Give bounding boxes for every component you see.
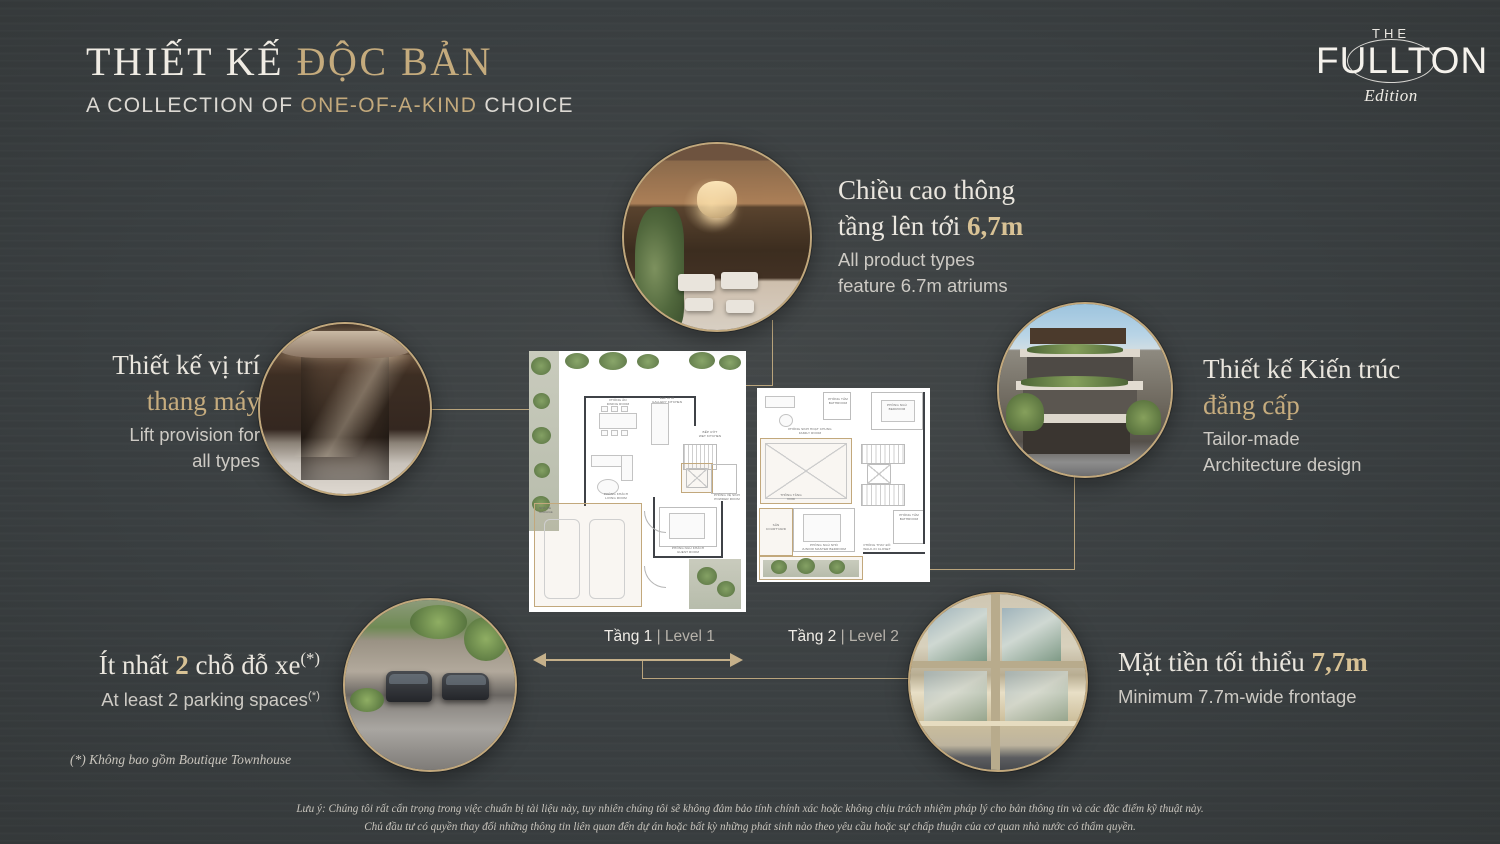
logo-edition-text: Edition bbox=[1316, 86, 1466, 106]
photo-modern-villa-exterior[interactable] bbox=[997, 302, 1173, 478]
photo-double-height-living-room[interactable] bbox=[622, 142, 812, 332]
glass-panel bbox=[924, 671, 987, 720]
floor-plan-level-2[interactable]: PHÒNG SINH HOẠT CHUNGFAMILY ROOM PHÒNG T… bbox=[757, 388, 930, 582]
plan1-door-swing bbox=[644, 566, 666, 588]
plan1-canvas: PHÒNG ĂNDINING ROOM BẾP KHÔGALLERY KITCH… bbox=[529, 351, 746, 612]
page-title-gold: ĐỘC BẢN bbox=[297, 39, 493, 84]
plan1-door-swing bbox=[644, 511, 666, 533]
plan1-wall-r2 bbox=[721, 501, 723, 557]
parking-footnote-marker-en: (*) bbox=[308, 689, 320, 701]
callout-lift-vn-l1: Thiết kế vị trí bbox=[20, 348, 260, 384]
callout-arch-en-l1: Tailor-made bbox=[1203, 426, 1400, 452]
villa-tree bbox=[1006, 393, 1044, 431]
plan1-tree bbox=[719, 355, 741, 370]
car-shape bbox=[386, 671, 432, 702]
footnote-boutique-townhouse: (*) Không bao gồm Boutique Townhouse bbox=[70, 752, 291, 768]
value-ceiling-height: 6,7m bbox=[967, 211, 1023, 241]
floor-band bbox=[910, 661, 1086, 668]
page-title: THIẾT KẾ ĐỘC BẢN bbox=[86, 40, 574, 85]
plan2-tree bbox=[797, 558, 815, 574]
elevator-image bbox=[260, 324, 430, 494]
callout-ceiling-vn-l2: tầng lên tới 6,7m bbox=[838, 209, 1023, 245]
level-1-label: Tầng 1 | Level 1 bbox=[604, 628, 715, 646]
plan1-sofa-l bbox=[621, 455, 633, 481]
parking-footnote-marker-vn: (*) bbox=[300, 649, 320, 668]
callout-frontage-width: Mặt tiền tối thiểu 7,7m Minimum 7.7m-wid… bbox=[1118, 645, 1368, 709]
plan2-tree bbox=[829, 560, 845, 574]
dimension-arrow-right bbox=[730, 653, 743, 667]
plan2-courtyard-highlight bbox=[759, 508, 793, 556]
plan2-stairs-lower bbox=[861, 484, 905, 506]
plan2-label-bedroom: PHÒNG NGỦBEDROOM bbox=[873, 404, 921, 412]
plan1-label-kitchen-dry: BẾP KHÔGALLERY KITCHEN bbox=[647, 397, 687, 405]
plan2-wall-b bbox=[863, 552, 925, 554]
slide-root: THIẾT KẾ ĐỘC BẢN A COLLECTION OF ONE-OF-… bbox=[0, 0, 1500, 844]
plan1-chair bbox=[611, 406, 618, 412]
shrub bbox=[464, 617, 508, 661]
plan1-label-living: PHÒNG KHÁCHLIVING ROOM bbox=[589, 493, 643, 501]
callout-parking-en: At least 2 parking spaces(*) bbox=[0, 687, 320, 713]
page-title-white: THIẾT KẾ bbox=[86, 39, 297, 84]
plan2-round-table bbox=[779, 414, 793, 427]
plan1-car-slot bbox=[544, 519, 580, 599]
plan1-wall-left2 bbox=[584, 451, 586, 506]
photo-driveway-two-cars[interactable] bbox=[343, 598, 517, 772]
villa-roof bbox=[1030, 328, 1126, 343]
shrub bbox=[350, 688, 384, 712]
plan1-label-dining: PHÒNG ĂNDINING ROOM bbox=[591, 399, 645, 407]
callout-lift-en: Lift provision for all types bbox=[20, 422, 260, 473]
callout-lift-vn-l2: thang máy bbox=[20, 384, 260, 420]
light-beam bbox=[274, 355, 430, 457]
page-header: THIẾT KẾ ĐỘC BẢN A COLLECTION OF ONE-OF-… bbox=[86, 40, 574, 118]
plan1-tree bbox=[697, 567, 717, 585]
glass-panel bbox=[928, 608, 988, 661]
plan2-void-cross bbox=[765, 443, 847, 499]
plan1-chair bbox=[611, 430, 618, 436]
plan1-tree bbox=[533, 393, 550, 409]
connector-arch-h bbox=[930, 569, 1075, 570]
connector-frontage bbox=[642, 678, 910, 679]
disclaimer-line-2: Chủ đầu tư có quyền thay đổi những thông… bbox=[0, 819, 1500, 836]
villa-planter bbox=[1027, 344, 1123, 354]
plan1-tree bbox=[689, 352, 715, 369]
plan1-car-slot bbox=[589, 519, 625, 599]
callout-frontage-en: Minimum 7.7m-wide frontage bbox=[1118, 684, 1368, 710]
plan1-label-powder: PHÒNG VỆ SINHPOWDER ROOM bbox=[707, 494, 746, 502]
awning bbox=[910, 721, 1086, 726]
plan1-dining-table bbox=[599, 413, 637, 429]
plan1-chair bbox=[621, 406, 628, 412]
page-subtitle: A COLLECTION OF ONE-OF-A-KIND CHOICE bbox=[86, 94, 574, 118]
dimension-line bbox=[546, 659, 732, 661]
plan1-bed bbox=[669, 513, 705, 539]
callout-lift-en-l1: Lift provision for bbox=[20, 422, 260, 448]
sofa-shape bbox=[685, 298, 713, 311]
sofa-shape bbox=[678, 274, 715, 291]
plan1-wall-right bbox=[694, 396, 696, 426]
frontage-image bbox=[910, 594, 1086, 770]
plan1-tree bbox=[531, 357, 551, 375]
parking-image bbox=[345, 600, 515, 770]
callout-lift-vn: Thiết kế vị trí thang máy bbox=[20, 348, 260, 419]
page-subtitle-pre: A COLLECTION OF bbox=[86, 94, 301, 117]
plan1-label-kitchen-wet: BẾP ƯỚTWET KITCHEN bbox=[689, 431, 731, 439]
disclaimer-line-1: Lưu ý: Chúng tôi rất cẩn trọng trong việ… bbox=[0, 801, 1500, 818]
callout-parking-spaces: Ít nhất 2 chỗ đỗ xe(*) At least 2 parkin… bbox=[0, 648, 320, 712]
callout-arch-vn: Thiết kế Kiến trúc đẳng cấp bbox=[1203, 352, 1400, 423]
plan1-chair bbox=[601, 406, 608, 412]
connector-frontage-v bbox=[642, 660, 643, 679]
villa-tree bbox=[1126, 400, 1160, 434]
plan1-tree bbox=[532, 427, 551, 444]
callout-parking-vn: Ít nhất 2 chỗ đỗ xe(*) bbox=[0, 648, 320, 684]
column bbox=[991, 594, 1000, 770]
page-subtitle-post: CHOICE bbox=[477, 94, 574, 117]
floor-plan-level-1[interactable]: PHÒNG ĂNDINING ROOM BẾP KHÔGALLERY KITCH… bbox=[529, 351, 746, 612]
level-2-vn: Tầng 2 bbox=[788, 628, 836, 645]
callout-ceiling-height: Chiều cao thông tầng lên tới 6,7m All pr… bbox=[838, 173, 1023, 298]
shrub bbox=[410, 605, 468, 639]
plan1-chair bbox=[621, 430, 628, 436]
plan2-label-bathroom: PHÒNG TẮMBATHROOM bbox=[819, 398, 857, 406]
plan2-tree bbox=[771, 560, 787, 574]
plan2-label-void: THÔNG TẦNGVOID bbox=[771, 494, 811, 502]
glass-panel bbox=[1002, 608, 1062, 661]
callout-ceiling-vn-l1: Chiều cao thông bbox=[838, 173, 1023, 209]
plan1-label-guest: PHÒNG NGỦ KHÁCHGUEST ROOM bbox=[657, 547, 719, 555]
legal-disclaimer: Lưu ý: Chúng tôi rất cẩn trọng trong việ… bbox=[0, 801, 1500, 836]
callout-ceiling-vn: Chiều cao thông tầng lên tới 6,7m bbox=[838, 173, 1023, 244]
glass-panel bbox=[1005, 671, 1068, 720]
plan1-tree bbox=[717, 581, 735, 597]
living-room-image bbox=[624, 144, 810, 330]
connector-arch-v bbox=[1074, 470, 1075, 570]
plan1-tree bbox=[637, 354, 659, 369]
plan1-label-garage: NHÀ XEGARAGE bbox=[539, 507, 573, 515]
villa-planter bbox=[1021, 376, 1128, 386]
level-1-vn: Tầng 1 bbox=[604, 628, 652, 645]
plan2-label-closet: PHÒNG THAY ĐỒWALK-IN CLOSET bbox=[855, 544, 899, 552]
plan1-tree bbox=[565, 353, 589, 369]
plan2-wall-r bbox=[923, 392, 925, 544]
callout-ceiling-en-l2: feature 6.7m atriums bbox=[838, 273, 1023, 299]
value-frontage-width: 7,7m bbox=[1311, 647, 1367, 677]
plan1-wall-bottom bbox=[653, 556, 723, 558]
plan1-kitchen-island bbox=[651, 403, 669, 445]
plan2-sofa bbox=[765, 396, 795, 408]
callout-ceiling-en: All product types feature 6.7m atriums bbox=[838, 247, 1023, 298]
plan1-lift-cross bbox=[686, 468, 708, 488]
brand-logo: THE FULLTON Edition bbox=[1316, 26, 1466, 106]
plan1-chair bbox=[601, 430, 608, 436]
plan1-tree bbox=[534, 463, 550, 478]
callout-arch-vn-l1: Thiết kế Kiến trúc bbox=[1203, 352, 1400, 388]
callout-lift-provision: Thiết kế vị trí thang máy Lift provision… bbox=[20, 348, 260, 473]
page-subtitle-gold: ONE-OF-A-KIND bbox=[301, 94, 478, 117]
level-2-en: Level 2 bbox=[849, 628, 899, 645]
callout-arch-en-l2: Architecture design bbox=[1203, 452, 1400, 478]
sofa-shape bbox=[721, 272, 758, 289]
car-shape bbox=[442, 673, 490, 700]
callout-architecture-design: Thiết kế Kiến trúc đẳng cấp Tailor-made … bbox=[1203, 352, 1400, 477]
plan2-label-courtyard: SÂNCOURTYARD bbox=[763, 524, 789, 532]
plan2-canvas: PHÒNG SINH HOẠT CHUNGFAMILY ROOM PHÒNG T… bbox=[757, 388, 930, 582]
villa-image bbox=[999, 304, 1171, 476]
photo-elevator-interior[interactable] bbox=[258, 322, 432, 496]
plan1-tree bbox=[599, 352, 627, 370]
plan2-bed-2 bbox=[803, 514, 841, 542]
callout-lift-en-l2: all types bbox=[20, 448, 260, 474]
callout-ceiling-en-l1: All product types bbox=[838, 247, 1023, 273]
callout-frontage-vn: Mặt tiền tối thiểu 7,7m bbox=[1118, 645, 1368, 681]
level-2-label: Tầng 2 | Level 2 bbox=[788, 628, 899, 646]
level-1-en: Level 1 bbox=[665, 628, 715, 645]
plan2-lift-cross bbox=[867, 464, 891, 484]
logo-name-text: FULLTON bbox=[1316, 42, 1466, 79]
plan2-label-family: PHÒNG SINH HOẠT CHUNGFAMILY ROOM bbox=[779, 428, 841, 436]
dimension-arrow-left bbox=[533, 653, 546, 667]
callout-arch-vn-l2: đẳng cấp bbox=[1203, 388, 1400, 424]
callout-arch-en: Tailor-made Architecture design bbox=[1203, 426, 1400, 477]
value-parking-count: 2 bbox=[175, 650, 189, 680]
sofa-shape bbox=[726, 300, 754, 313]
plan1-powder-room bbox=[711, 464, 737, 494]
photo-shophouse-frontage[interactable] bbox=[908, 592, 1088, 772]
plan2-label-junior: PHÒNG NGỦ NHỎJUNIOR MASTER BEDROOM bbox=[787, 544, 861, 552]
plan2-stairs bbox=[861, 444, 905, 464]
